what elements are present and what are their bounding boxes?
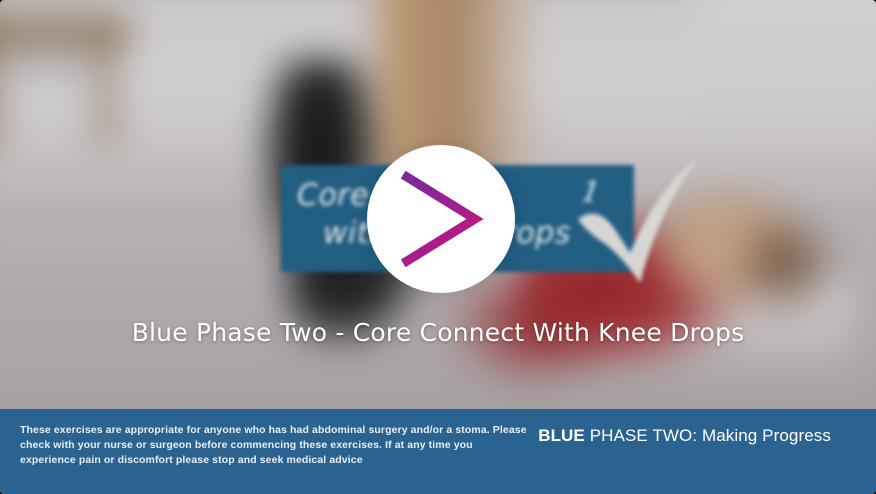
background-curtain-edge bbox=[500, 0, 540, 180]
background-person-hair bbox=[730, 210, 840, 320]
checkmark-icon bbox=[576, 157, 706, 297]
background-table-leg-right bbox=[100, 40, 113, 150]
play-triangle-icon bbox=[395, 169, 487, 269]
phase-label: BLUE PHASE TWO: Making Progress bbox=[538, 426, 831, 446]
video-title: Blue Phase Two - Core Connect With Knee … bbox=[0, 318, 876, 347]
bottom-info-bar: These exercises are appropriate for anyo… bbox=[0, 409, 876, 494]
video-player[interactable]: Core connect with knee drops 1 bbox=[0, 0, 876, 494]
phase-label-strong: BLUE bbox=[538, 426, 585, 445]
disclaimer-text: These exercises are appropriate for anyo… bbox=[20, 423, 530, 468]
background-right-wall bbox=[696, 0, 876, 180]
phase-label-rest: PHASE TWO: Making Progress bbox=[585, 426, 831, 445]
play-button[interactable] bbox=[367, 145, 515, 293]
